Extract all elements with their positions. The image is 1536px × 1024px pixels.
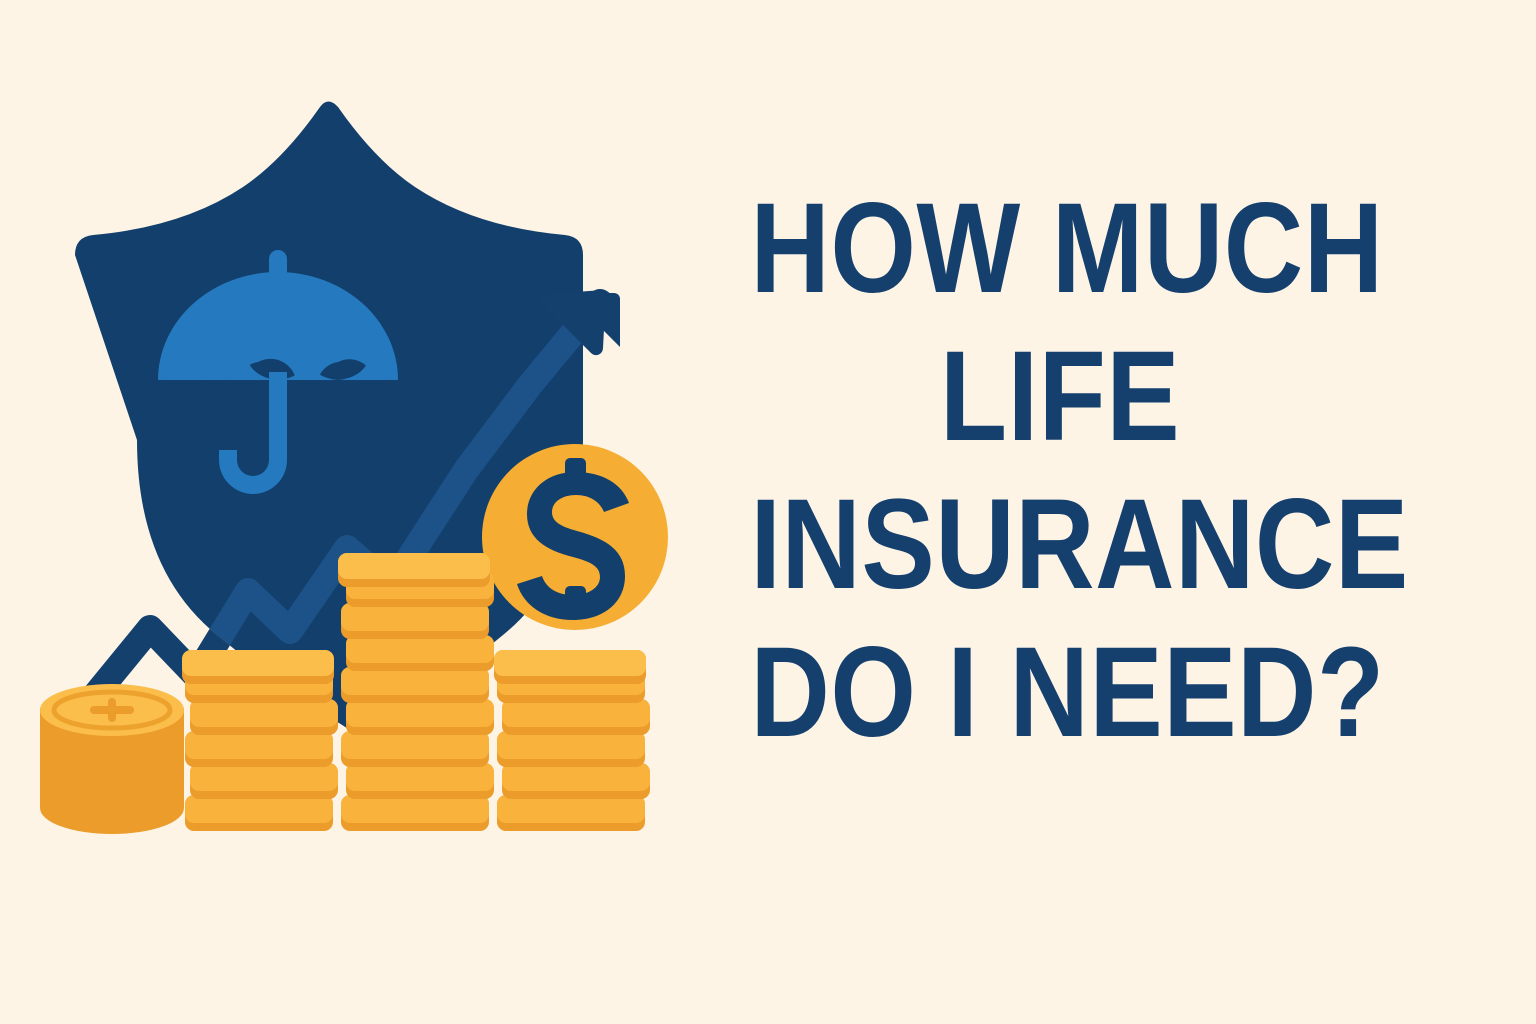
page-title: HOW MUCH LIFE INSURANCE DO I NEED? <box>700 175 1420 815</box>
coin-stack-icon-right <box>494 650 650 831</box>
title-line-2: LIFE <box>750 323 1369 471</box>
coin-stack-icon-left <box>182 650 338 831</box>
poster-canvas: HOW MUCH LIFE INSURANCE DO I NEED? <box>0 0 1536 1024</box>
coin-stack-icon-small <box>40 684 184 834</box>
title-line-4: DO I NEED? <box>750 619 1369 767</box>
coin-stack-icon-center <box>338 553 494 831</box>
dollar-circle-icon <box>482 444 668 630</box>
title-line-1: HOW MUCH <box>750 175 1369 323</box>
title-line-3: INSURANCE <box>750 471 1369 619</box>
illustration-graphic <box>0 0 700 1024</box>
